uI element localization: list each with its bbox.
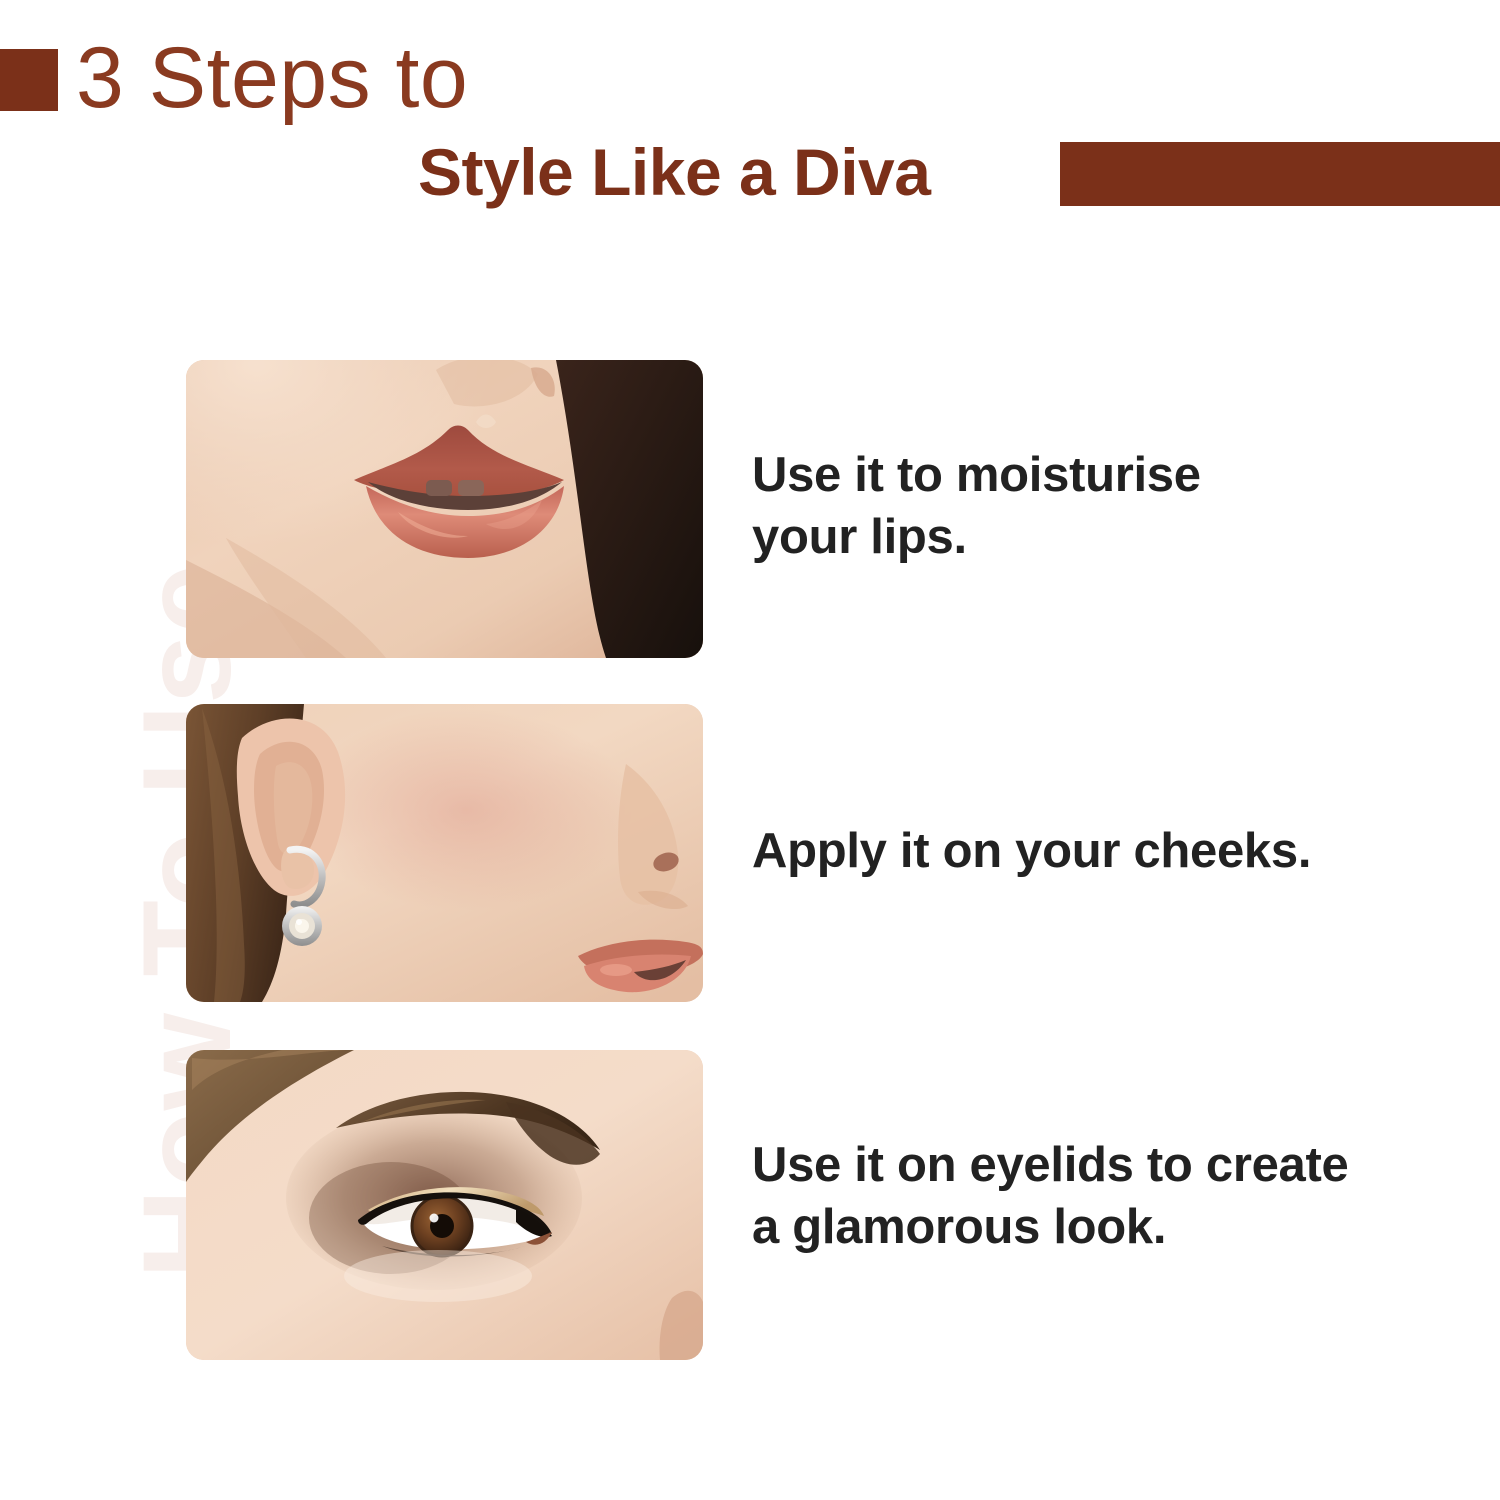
step-photo-eye xyxy=(186,1050,703,1360)
page-title-line-1: 3 Steps to xyxy=(76,28,468,128)
poster-canvas: 3 Steps to Style Like a Diva How To Use xyxy=(0,0,1500,1500)
header-accent-bar xyxy=(1060,142,1500,206)
step-row: Use it to moisturise your lips. xyxy=(186,360,1456,658)
page-title-line-2: Style Like a Diva xyxy=(418,132,930,212)
step-row: Use it on eyelids to create a glamorous … xyxy=(186,1050,1456,1360)
step-caption: Apply it on your cheeks. xyxy=(752,820,1311,882)
step-photo-lips xyxy=(186,360,703,658)
step-row: Apply it on your cheeks. xyxy=(186,704,1456,1002)
step-caption: Use it to moisturise your lips. xyxy=(752,444,1201,568)
header-accent-square xyxy=(0,49,58,111)
step-caption: Use it on eyelids to create a glamorous … xyxy=(752,1134,1348,1258)
step-photo-cheek xyxy=(186,704,703,1002)
